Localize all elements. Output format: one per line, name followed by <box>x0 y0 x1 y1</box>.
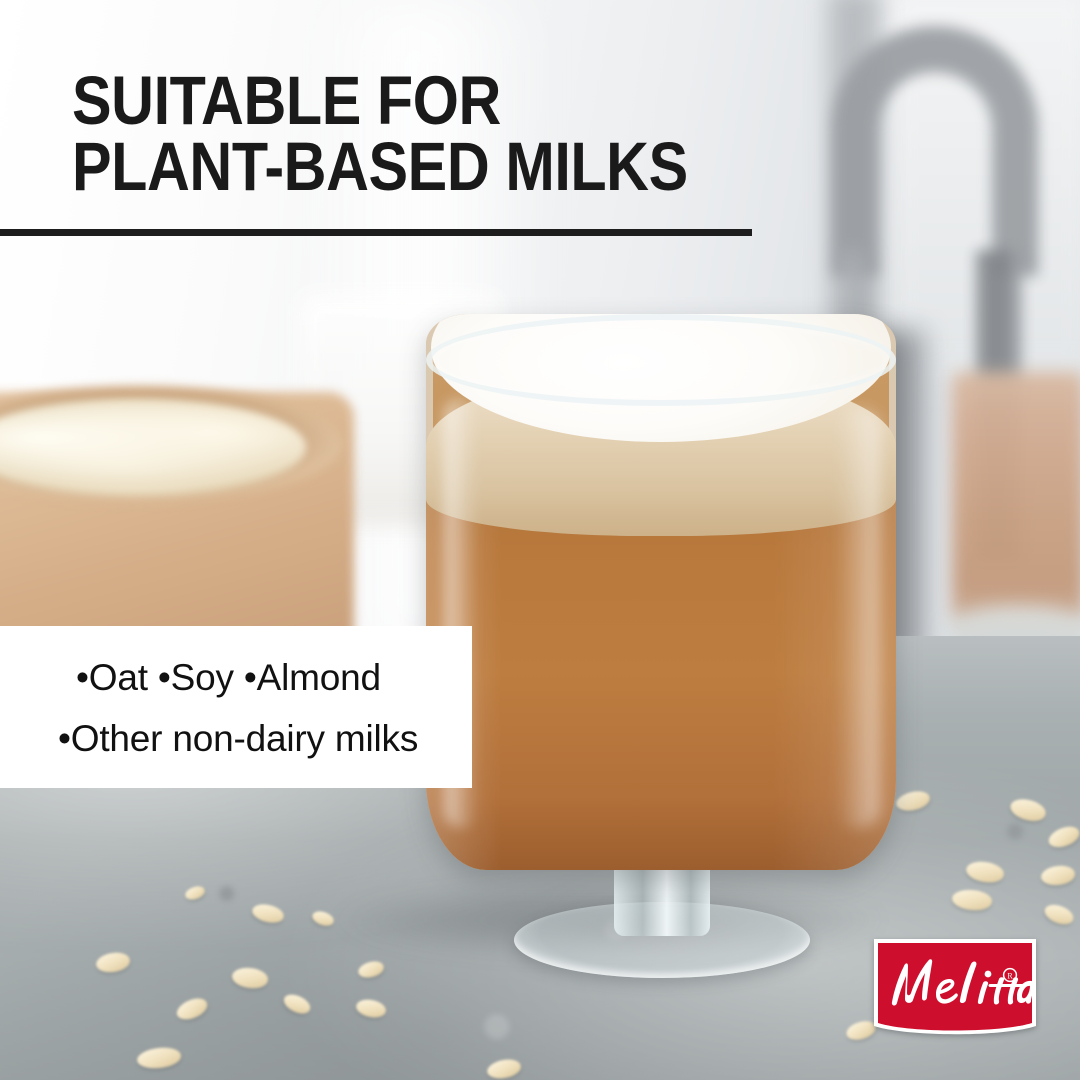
melitta-logo[interactable]: R <box>874 939 1036 1037</box>
secondary-coffee-glass <box>952 372 1080 632</box>
glass-highlight-right <box>836 408 880 828</box>
poster-canvas: SUITABLE FOR PLANT-BASED MILKS •Oat •Soy… <box>0 0 1080 1080</box>
glass-stem <box>614 860 710 936</box>
headline-divider <box>0 229 752 236</box>
list-item: •Other non-dairy milks <box>58 718 418 760</box>
glass-rim <box>426 314 896 406</box>
page-title: SUITABLE FOR PLANT-BASED MILKS <box>72 68 688 200</box>
benefits-panel: •Oat •Soy •Almond •Other non-dairy milks <box>0 626 472 788</box>
svg-text:R: R <box>1007 971 1013 980</box>
coffee-machine-spout-icon <box>832 26 1038 276</box>
latte-glass <box>418 278 904 978</box>
list-item: •Oat •Soy •Almond <box>76 657 381 699</box>
benefits-list: •Oat •Soy •Almond •Other non-dairy milks <box>0 626 472 788</box>
